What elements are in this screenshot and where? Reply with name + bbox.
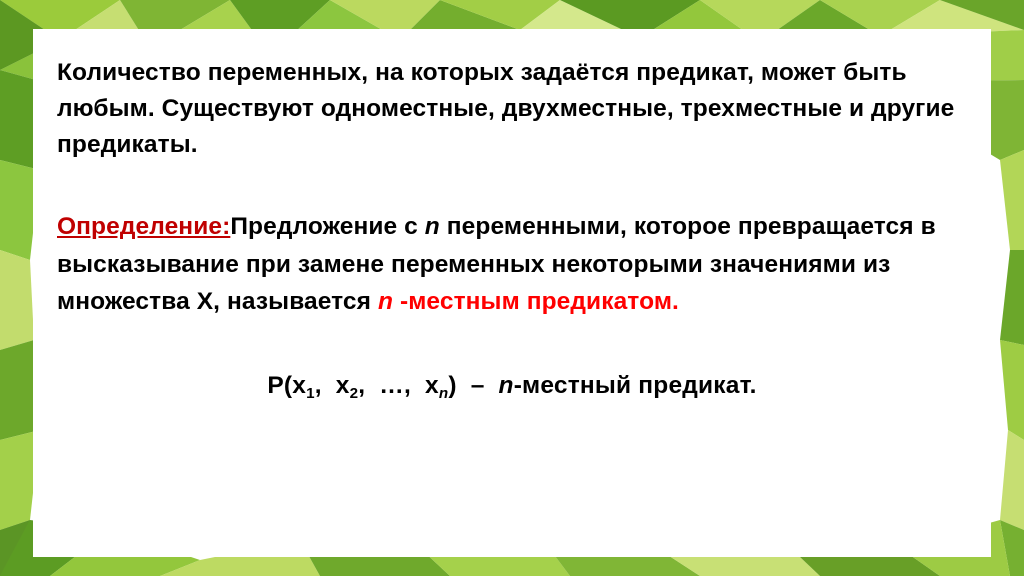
formula-arg-2: x (336, 372, 350, 399)
formula-arg-1-sub: 1 (306, 385, 315, 402)
formula-arg-n-sub: n (439, 385, 448, 402)
formula-dash: – (471, 372, 485, 399)
formula-tail-text: -местный предикат. (514, 372, 757, 399)
formula-open-paren: ( (284, 372, 292, 399)
formula-line: P(x1, x2, …, xn) – n-местный предикат. (57, 320, 967, 400)
definition-paragraph: Определение:Предложение с n переменными,… (57, 208, 967, 320)
paragraph-spacer (57, 162, 967, 208)
definition-text-1: Предложение с (230, 213, 424, 240)
formula-comma-1: , (315, 372, 322, 399)
definition-block: Определение:Предложение с n переменными,… (57, 208, 967, 320)
paragraph-1: Количество переменных, на которых задаёт… (57, 55, 967, 162)
formula-arg-2-sub: 2 (350, 385, 359, 402)
paragraph-block-1: Количество переменных, на которых задаёт… (57, 55, 967, 162)
content-card: Количество переменных, на которых задаёт… (33, 29, 991, 557)
formula-predicate-name: P (267, 372, 284, 399)
definition-label: Определение: (57, 213, 230, 240)
formula-close-paren: ) (448, 372, 456, 399)
formula-ellipsis: …, (379, 372, 411, 399)
formula-comma-2: , (358, 372, 365, 399)
formula-tail-n: n (499, 372, 514, 399)
definition-variable-n: n (425, 213, 440, 240)
slide-text-area: Количество переменных, на которых задаёт… (57, 55, 967, 400)
formula-arg-n: x (425, 372, 439, 399)
formula-arg-1: x (292, 372, 306, 399)
definition-emphasis-rest: -местным предикатом. (393, 288, 679, 315)
slide: Количество переменных, на которых задаёт… (0, 0, 1024, 576)
definition-emphasis-n: n (378, 288, 393, 315)
